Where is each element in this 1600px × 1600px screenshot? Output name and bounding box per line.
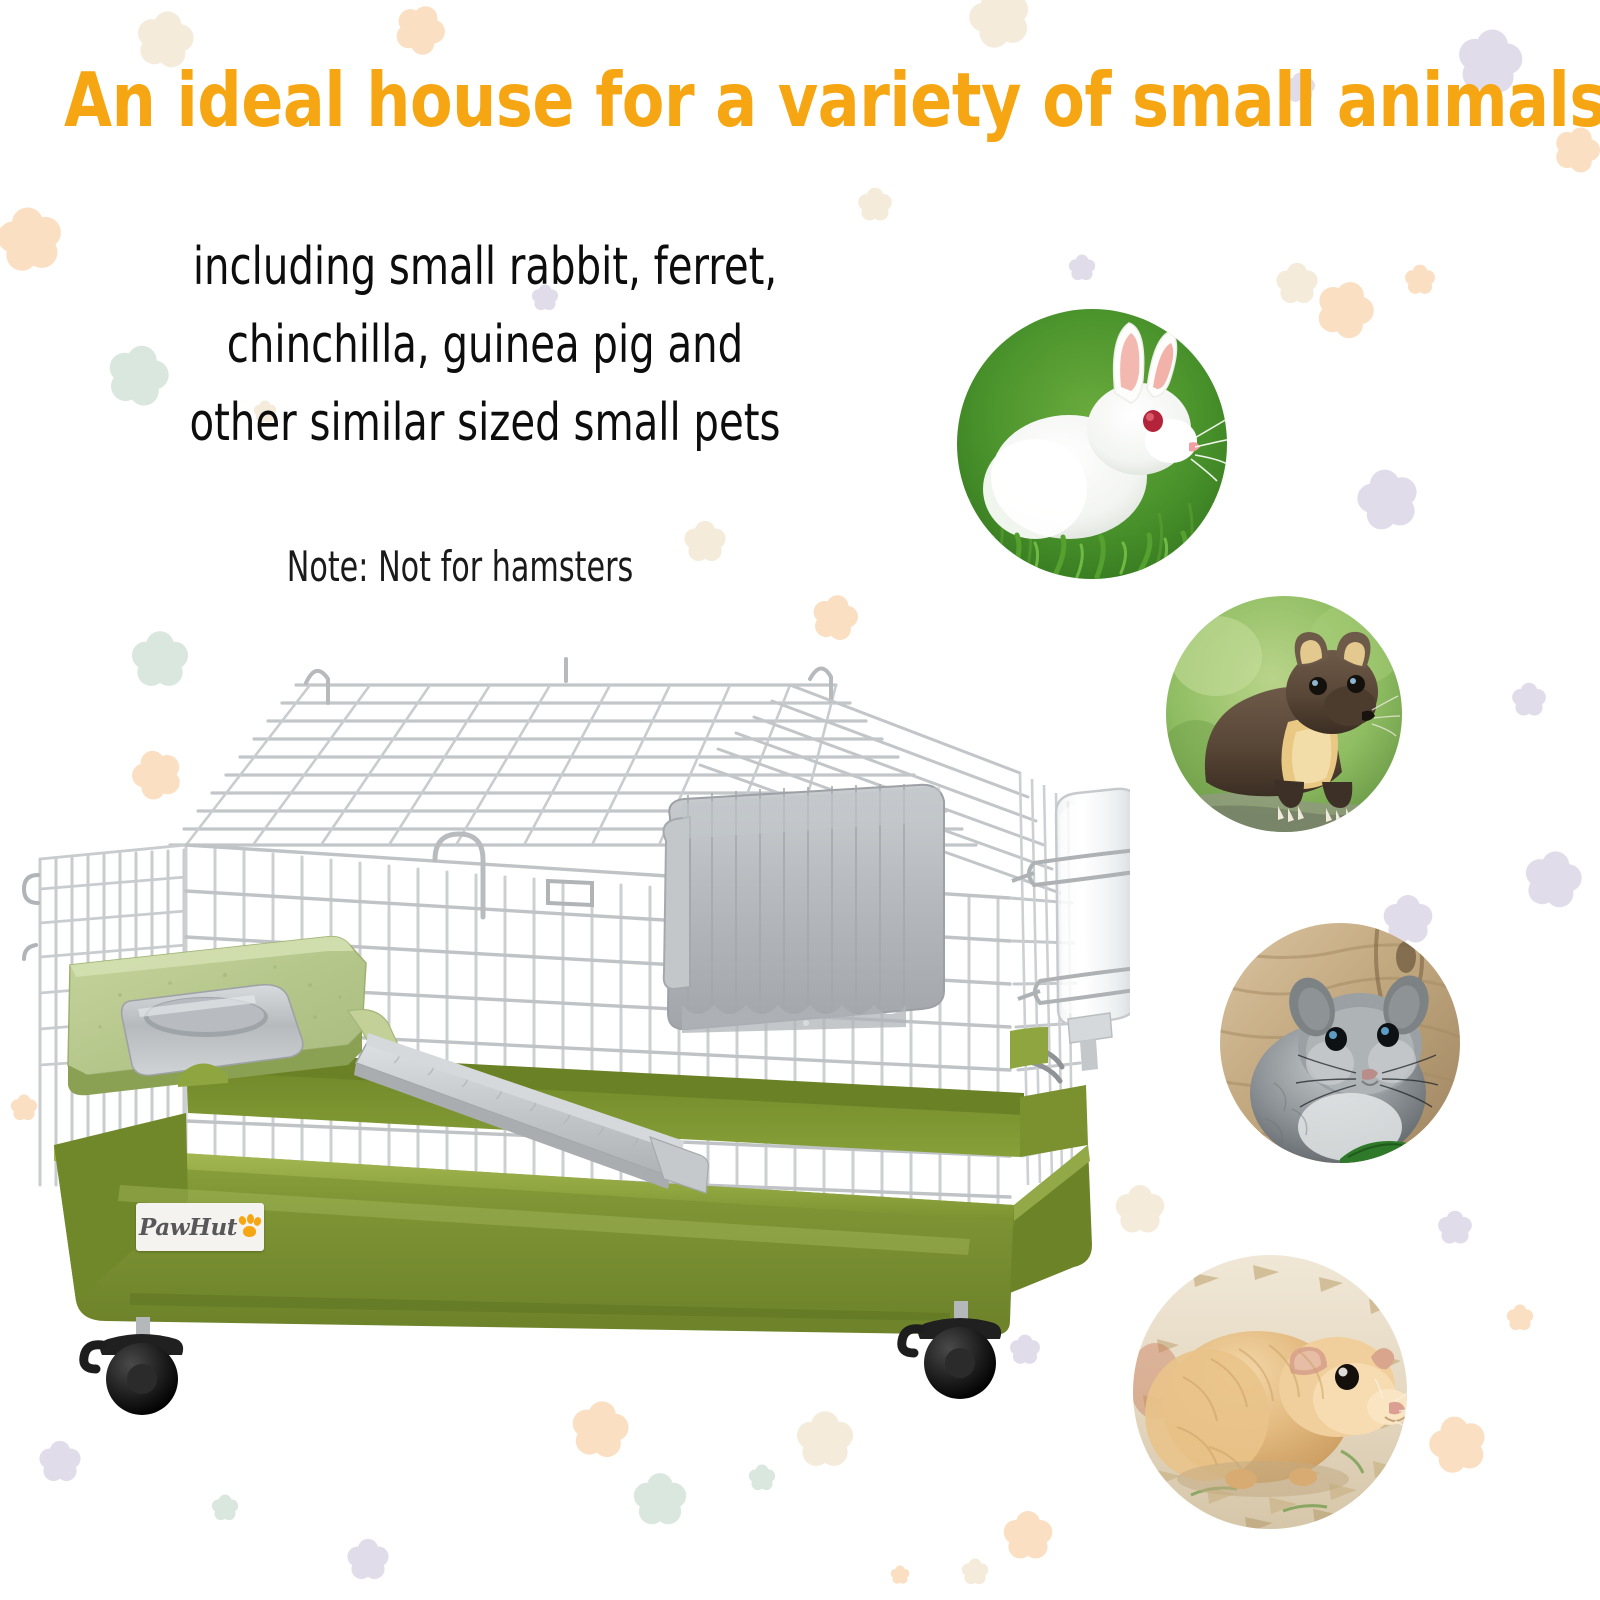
- flower-decoration: [1437, 1210, 1473, 1246]
- flower-decoration: [857, 187, 893, 223]
- flower-decoration: [961, 1558, 989, 1586]
- flower-decoration: [1350, 462, 1426, 538]
- rabbit-photo: [957, 309, 1227, 579]
- ferret-photo: [1166, 596, 1402, 832]
- flower-decoration: [961, 0, 1039, 57]
- brand-name: PawHut: [139, 1216, 237, 1239]
- guinea-pig-photo: [1133, 1255, 1407, 1529]
- flower-decoration: [632, 1472, 688, 1528]
- flower-decoration: [211, 1494, 239, 1522]
- description-line-2: chinchilla, guinea pig and: [145, 306, 824, 384]
- flower-decoration: [748, 1464, 776, 1492]
- flower-decoration: [1307, 272, 1384, 349]
- flower-decoration: [1506, 1304, 1534, 1332]
- flower-decoration: [807, 590, 864, 647]
- flower-decoration: [1002, 1510, 1054, 1562]
- description-text: including small rabbit, ferret, chinchil…: [145, 228, 824, 462]
- note-text: Note: Not for hamsters: [164, 541, 756, 593]
- description-line-3: other similar sized small pets: [145, 384, 824, 462]
- flower-decoration: [0, 202, 68, 279]
- flower-decoration: [38, 1440, 82, 1484]
- chinchilla-photo: [1220, 923, 1460, 1163]
- flower-decoration: [1511, 682, 1547, 718]
- water-bottle: [1010, 789, 1130, 1071]
- flower-decoration: [385, 0, 454, 65]
- flower-decoration: [1275, 262, 1319, 306]
- flower-decoration: [1422, 1409, 1495, 1482]
- hay-rack-hideout: [664, 784, 944, 1033]
- flower-decoration: [1404, 264, 1436, 296]
- pawhut-logo-badge: PawHut: [136, 1203, 264, 1251]
- flower-decoration: [346, 1538, 390, 1582]
- infographic-canvas: An ideal house for a variety of small an…: [0, 0, 1600, 1600]
- green-plastic-base: [54, 1049, 1092, 1335]
- paw-print-icon: [239, 1214, 261, 1240]
- product-image-cage: [10, 645, 1130, 1425]
- flower-decoration: [890, 1565, 910, 1585]
- flower-decoration: [1518, 845, 1588, 915]
- flower-decoration: [1068, 254, 1096, 282]
- description-line-1: including small rabbit, ferret,: [145, 228, 824, 306]
- page-title: An ideal house for a variety of small an…: [64, 58, 1536, 142]
